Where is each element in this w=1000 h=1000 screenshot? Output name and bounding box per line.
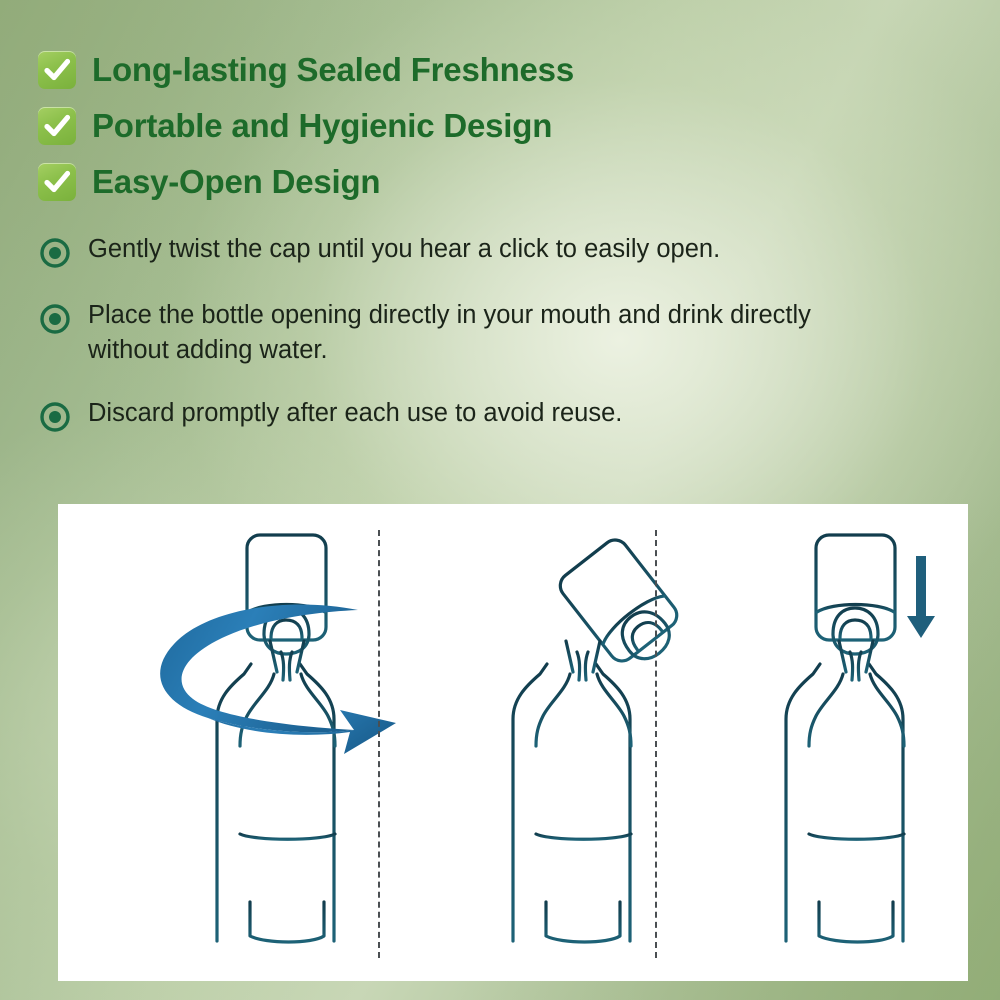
bottle-illustration-open [513,535,691,942]
feature-item: Easy-Open Design [38,154,738,210]
feature-label: Portable and Hygienic Design [92,107,552,145]
down-arrow-icon [907,556,935,638]
feature-list: Long-lasting Sealed Freshness Portable a… [38,42,738,210]
step-item: Place the bottle opening directly in you… [38,298,858,368]
panel-divider [655,530,657,958]
check-square-icon [38,51,76,89]
step-item: Discard promptly after each use to avoid… [38,396,858,434]
panel-divider [378,530,380,958]
bottle-illustration-close [786,535,904,942]
step-text: Discard promptly after each use to avoid… [88,396,622,431]
step-text: Gently twist the cap until you hear a cl… [88,232,720,267]
feature-label: Long-lasting Sealed Freshness [92,51,574,89]
feature-item: Long-lasting Sealed Freshness [38,42,738,98]
infographic-page: Long-lasting Sealed Freshness Portable a… [0,0,1000,1000]
step-item: Gently twist the cap until you hear a cl… [38,232,858,270]
usage-steps-list: Gently twist the cap until you hear a cl… [38,232,858,462]
target-circle-icon [38,236,72,270]
illustration-panel [58,504,968,981]
check-square-icon [38,163,76,201]
circular-rotate-arrow [160,604,396,754]
target-circle-icon [38,400,72,434]
target-circle-icon [38,302,72,336]
step-text: Place the bottle opening directly in you… [88,298,828,368]
bottle-illustration-twist [217,535,335,942]
check-square-icon [38,107,76,145]
feature-item: Portable and Hygienic Design [38,98,738,154]
feature-label: Easy-Open Design [92,163,380,201]
